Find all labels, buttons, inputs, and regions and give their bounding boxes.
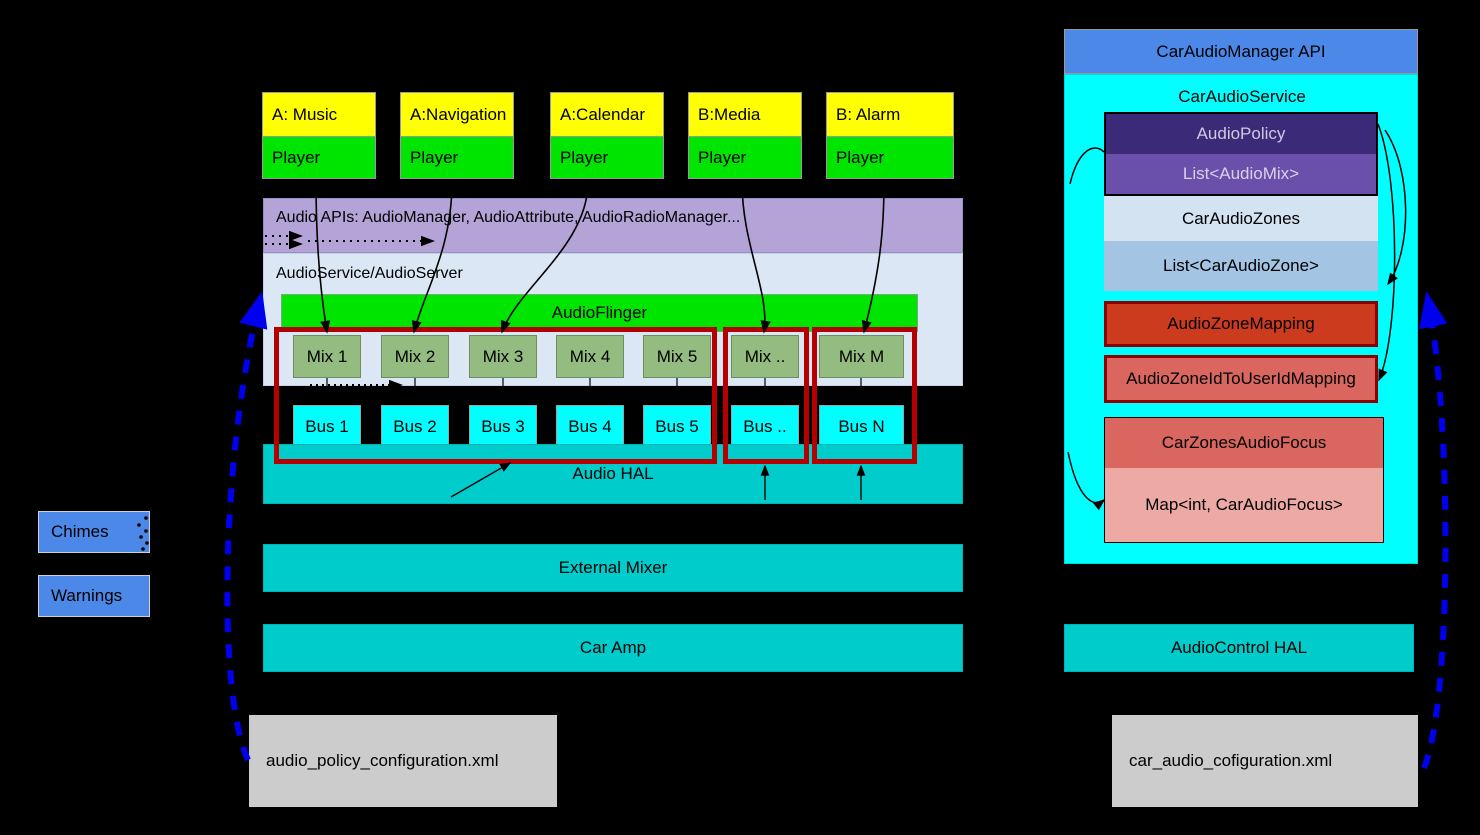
- left-config-arrow: [227, 300, 260, 760]
- app-tile-player-2: Player: [550, 137, 664, 179]
- car-audio-service-label: CarAudioService: [1065, 83, 1419, 111]
- list-car-audio-zone-box: List<CarAudioZone>: [1104, 241, 1378, 291]
- app-tile-title-3: B:Media: [688, 92, 802, 137]
- audio-zone-mapping-box: AudioZoneMapping: [1104, 301, 1378, 347]
- audio-zone-frame-secondary: [723, 327, 809, 464]
- audio-policy-group: AudioPolicy List<AudioMix>: [1104, 112, 1378, 196]
- list-audio-mix-box: List<AudioMix>: [1106, 154, 1376, 194]
- right-config-arrow: [1424, 300, 1446, 768]
- car-zones-audio-focus-group: CarZonesAudioFocus Map<int, CarAudioFocu…: [1104, 417, 1384, 543]
- audio-zone-frame-primary: [274, 327, 717, 464]
- external-mixer-box: External Mixer: [263, 544, 963, 592]
- app-tile-player-1: Player: [400, 137, 514, 179]
- car-audio-cofiguration-xml-box: car_audio_cofiguration.xml: [1112, 715, 1418, 807]
- map-int-car-audio-focus-box: Map<int, CarAudioFocus>: [1105, 468, 1383, 542]
- warnings-box: Warnings: [38, 575, 150, 617]
- audio-service-label: AudioService/AudioServer: [276, 260, 636, 288]
- audio-policy-box: AudioPolicy: [1106, 114, 1376, 154]
- car-audio-zones-box: CarAudioZones: [1104, 196, 1378, 241]
- app-tile-player-0: Player: [262, 137, 376, 179]
- app-tile-title-4: B: Alarm: [826, 92, 954, 137]
- car-audio-manager-api-box: CarAudioManager API: [1064, 29, 1418, 74]
- audio-apis-label: Audio APIs: AudioManager, AudioAttribute…: [276, 209, 740, 227]
- app-tile-title-1: A:Navigation: [400, 92, 514, 137]
- chimes-box: Chimes: [38, 511, 150, 553]
- app-tile-player-3: Player: [688, 137, 802, 179]
- diagram-canvas: A: Music Player A:Navigation Player A:Ca…: [0, 0, 1480, 835]
- audio-zone-frame-tertiary: [812, 327, 917, 464]
- car-zones-audio-focus-box: CarZonesAudioFocus: [1105, 418, 1383, 468]
- app-tile-title-0: A: Music: [262, 92, 376, 137]
- audio-apis-band: Audio APIs: AudioManager, AudioAttribute…: [263, 198, 963, 253]
- app-tile-player-4: Player: [826, 137, 954, 179]
- audio-control-hal-box: AudioControl HAL: [1064, 624, 1414, 672]
- car-amp-box: Car Amp: [263, 624, 963, 672]
- audio-policy-configuration-xml-box: audio_policy_configuration.xml: [249, 715, 557, 807]
- app-tile-title-2: A:Calendar: [550, 92, 664, 137]
- audio-zone-id-to-user-id-mapping-box: AudioZoneIdToUserIdMapping: [1104, 355, 1378, 403]
